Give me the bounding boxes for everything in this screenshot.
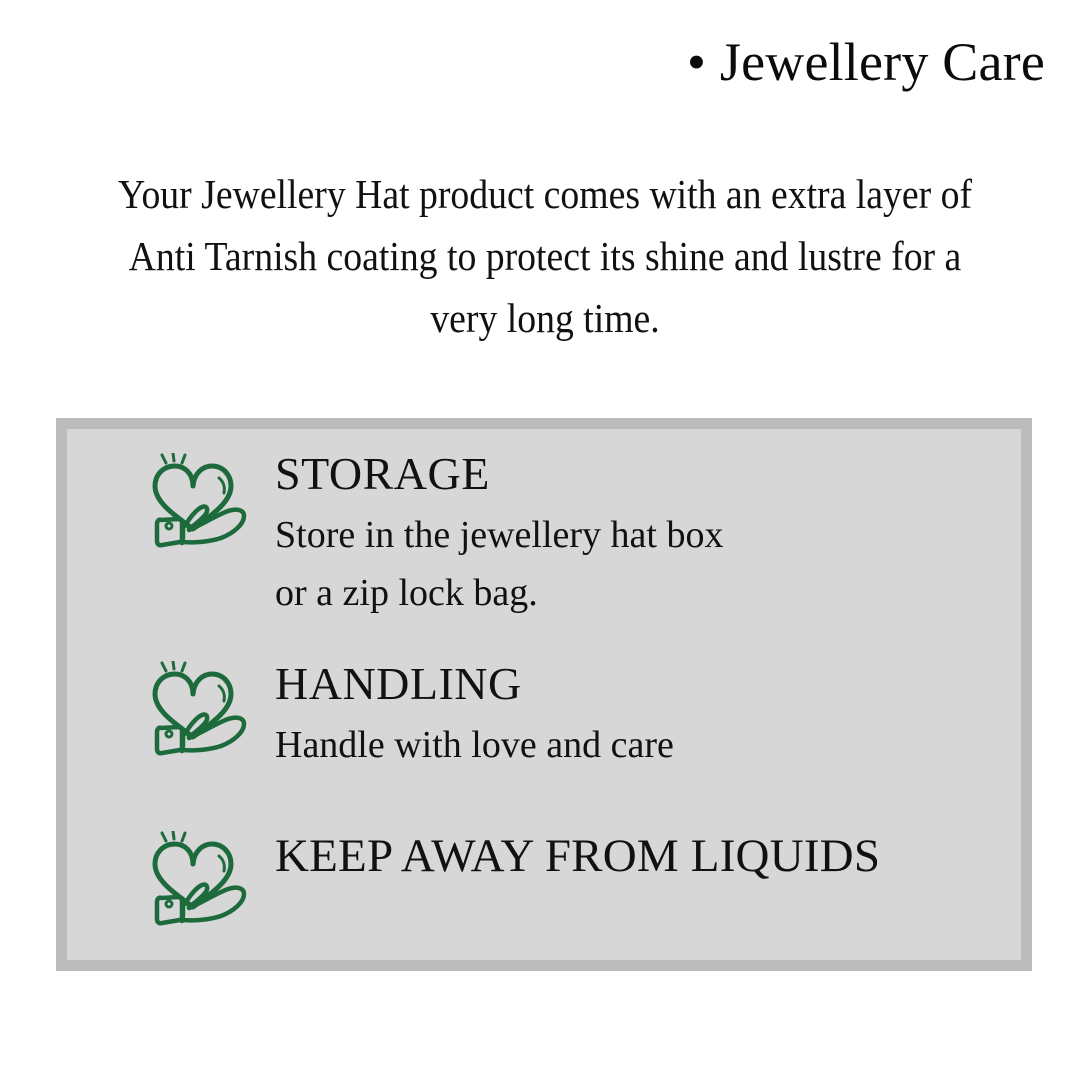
intro-paragraph: Your Jewellery Hat product comes with an… <box>108 163 982 349</box>
heart-in-hand-icon <box>149 831 253 927</box>
care-item-body: Store in the jewellery hat box or a zip … <box>275 506 724 622</box>
care-item-keep-away-from-liquids: KEEP AWAY FROM LIQUIDS <box>149 829 880 927</box>
care-item-body-line: Store in the jewellery hat box <box>275 506 724 564</box>
page-title-bullet: • <box>687 34 706 91</box>
page-title-text <box>706 34 720 91</box>
care-instruction-list: STORAGE Store in the jewellery hat box o… <box>67 429 1021 960</box>
heart-in-hand-icon <box>149 661 253 757</box>
care-item-heading: KEEP AWAY FROM LIQUIDS <box>275 830 880 882</box>
page-title-label: Jewellery Care <box>720 34 1045 91</box>
care-item-text: KEEP AWAY FROM LIQUIDS <box>275 829 880 883</box>
care-item-heading: HANDLING <box>275 658 522 709</box>
care-item-body-line: Handle with love and care <box>275 716 674 774</box>
care-item-text: HANDLING Handle with love and care <box>275 657 674 774</box>
care-item-heading: STORAGE <box>275 448 490 499</box>
care-instructions-box: STORAGE Store in the jewellery hat box o… <box>56 418 1032 971</box>
page-title: • Jewellery Care <box>0 34 1045 91</box>
care-item-text: STORAGE Store in the jewellery hat box o… <box>275 447 724 622</box>
care-item-storage: STORAGE Store in the jewellery hat box o… <box>149 447 724 622</box>
heart-in-hand-icon <box>149 453 253 549</box>
jewellery-care-page: • Jewellery Care Your Jewellery Hat prod… <box>0 0 1080 1080</box>
care-item-body: Handle with love and care <box>275 716 674 774</box>
care-item-body-line: or a zip lock bag. <box>275 564 724 622</box>
care-item-handling: HANDLING Handle with love and care <box>149 657 674 774</box>
